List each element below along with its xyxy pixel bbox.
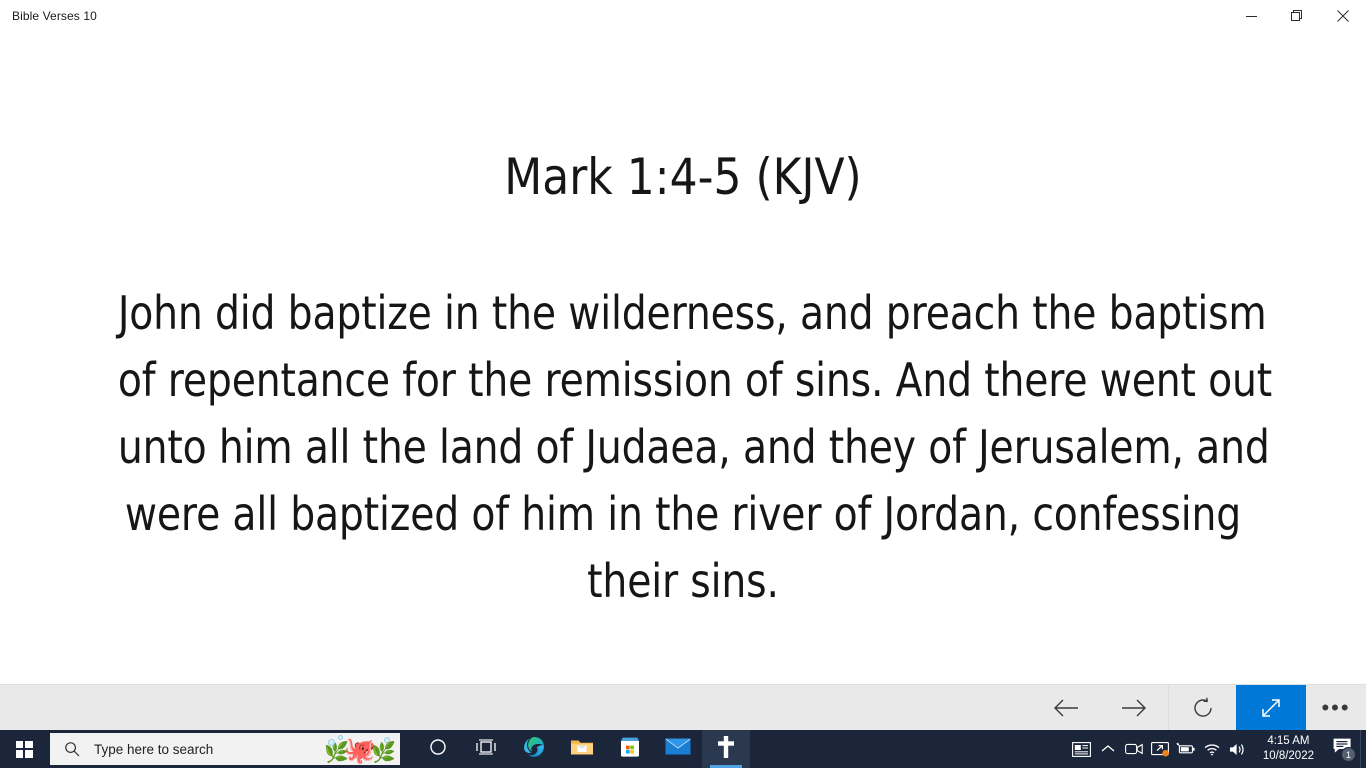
arrow-right-icon	[1121, 698, 1147, 718]
fullscreen-button[interactable]	[1236, 685, 1306, 730]
cross-icon	[716, 735, 736, 764]
taskbar-pinned-apps	[414, 730, 750, 768]
window-controls	[1228, 0, 1366, 32]
taskbar-item-bible-verses[interactable]	[702, 730, 750, 768]
search-icon	[64, 741, 80, 757]
volume-icon[interactable]	[1225, 730, 1251, 768]
verse-line: were all baptized of him in the river of…	[118, 481, 1248, 548]
task-view-icon	[475, 738, 497, 761]
windows-taskbar: Type here to search 🌿 🌿 🐙	[0, 730, 1366, 768]
windows-logo-icon	[16, 741, 33, 758]
show-hidden-icons-icon[interactable]	[1095, 730, 1121, 768]
verse-body-text: John did baptize in the wilderness, and …	[22, 280, 1344, 615]
close-button[interactable]	[1320, 0, 1366, 32]
verse-line: unto him all the land of Judaea, and the…	[118, 414, 1248, 481]
back-button[interactable]	[1032, 685, 1100, 730]
restore-button[interactable]	[1274, 0, 1320, 32]
taskbar-item-edge[interactable]	[510, 730, 558, 768]
taskbar-item-file-explorer[interactable]	[558, 730, 606, 768]
news-weather-icon[interactable]	[1069, 730, 1095, 768]
verse-line: their sins.	[118, 548, 1248, 615]
verse-line: John did baptize in the wilderness, and …	[118, 280, 1248, 347]
taskbar-clock[interactable]: 4:15 AM 10/8/2022	[1251, 734, 1324, 764]
app-bottom-toolbar: •••	[0, 684, 1366, 730]
forward-button[interactable]	[1100, 685, 1168, 730]
start-button[interactable]	[0, 730, 48, 768]
file-explorer-icon	[570, 736, 594, 763]
action-center-button[interactable]: 1	[1324, 730, 1360, 768]
verse-reference-heading: Mark 1:4-5 (KJV)	[82, 150, 1284, 205]
microsoft-store-icon	[619, 736, 641, 763]
desktop: Bible Verses 10	[0, 0, 1366, 768]
system-tray: 4:15 AM 10/8/2022 1	[1069, 730, 1366, 768]
verse-line: of repentance for the remission of sins.…	[118, 347, 1248, 414]
screen-share-icon[interactable]	[1147, 730, 1173, 768]
window-titlebar[interactable]: Bible Verses 10	[0, 0, 1366, 32]
camera-icon[interactable]	[1121, 730, 1147, 768]
arrow-left-icon	[1053, 698, 1079, 718]
notification-count-badge: 1	[1341, 747, 1356, 762]
octopus-decoration-icon: 🌿 🌿 🐙	[320, 733, 400, 765]
restore-icon	[1291, 10, 1303, 22]
mail-icon	[665, 737, 691, 761]
taskbar-item-task-view[interactable]	[462, 730, 510, 768]
window-title: Bible Verses 10	[0, 9, 97, 23]
clock-time: 4:15 AM	[1267, 734, 1309, 749]
taskbar-item-mail[interactable]	[654, 730, 702, 768]
search-box[interactable]: Type here to search 🌿 🌿 🐙	[50, 733, 400, 765]
cortana-icon	[429, 738, 447, 761]
minimize-icon	[1246, 11, 1257, 22]
edge-icon	[522, 735, 546, 764]
battery-icon[interactable]	[1173, 730, 1199, 768]
minimize-button[interactable]	[1228, 0, 1274, 32]
expand-diagonal-icon	[1259, 696, 1283, 720]
close-icon	[1337, 10, 1349, 22]
refresh-button[interactable]	[1168, 685, 1236, 730]
taskbar-item-cortana[interactable]	[414, 730, 462, 768]
search-input-placeholder: Type here to search	[94, 742, 213, 757]
refresh-icon	[1192, 697, 1214, 719]
taskbar-item-microsoft-store[interactable]	[606, 730, 654, 768]
more-options-button[interactable]: •••	[1306, 685, 1366, 730]
slide-content-area: Mark 1:4-5 (KJV) John did baptize in the…	[0, 32, 1366, 684]
clock-date: 10/8/2022	[1263, 749, 1314, 764]
wifi-icon[interactable]	[1199, 730, 1225, 768]
show-desktop-button[interactable]	[1360, 730, 1366, 768]
